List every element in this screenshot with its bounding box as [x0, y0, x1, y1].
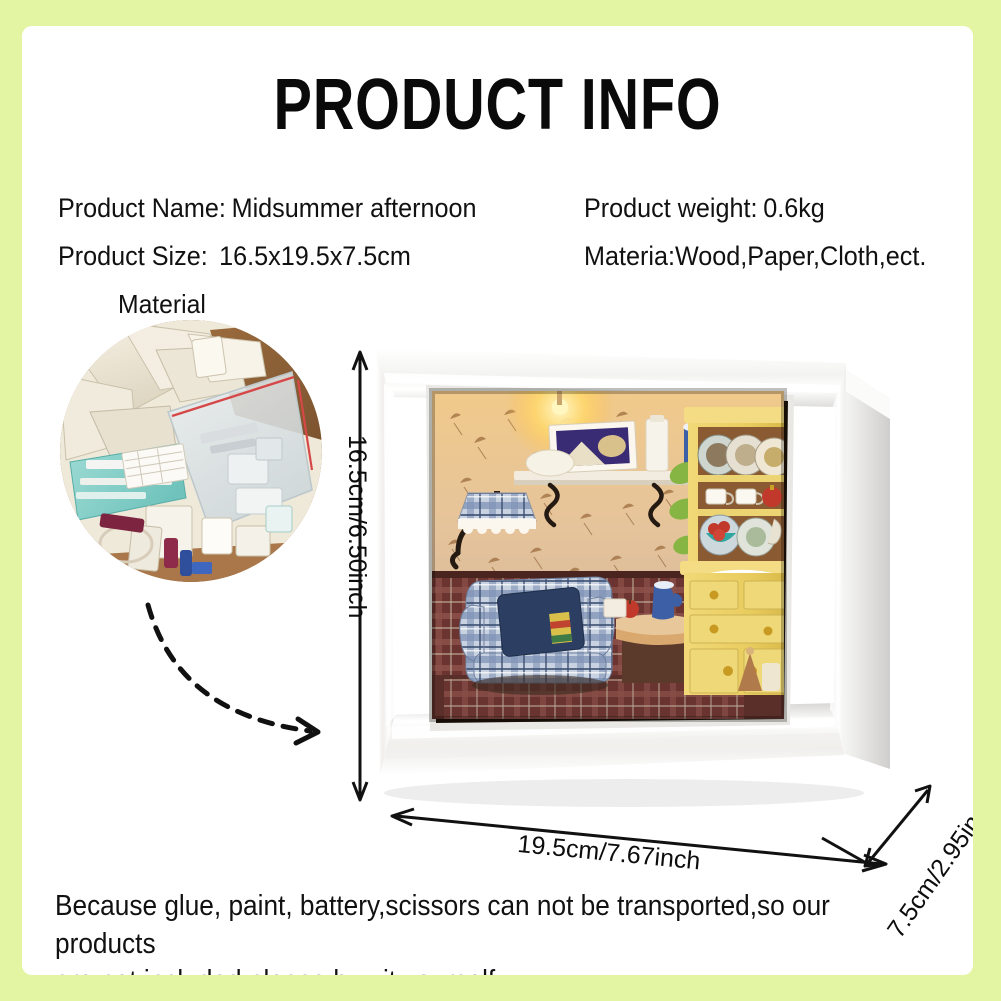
spec-product-name: Product Name:Midsummer afternoon: [58, 193, 476, 224]
dimension-width-label: 19.5cm/7.67inch: [516, 830, 701, 876]
spec-product-name-value: Midsummer afternoon: [232, 193, 477, 223]
material-photo-illustration: [60, 320, 322, 582]
spec-product-size-label: Product Size:: [58, 241, 208, 271]
dimension-height-label: 16.5cm/6.50inch: [342, 435, 371, 618]
curved-dashed-arrow: [134, 591, 344, 761]
spec-material: Materia:Wood,Paper,Cloth,ect.: [584, 241, 926, 272]
spec-product-weight-value: 0.6kg: [763, 193, 825, 223]
disclaimer-line-1: Because glue, paint, battery,scissors ca…: [55, 888, 874, 963]
disclaimer-line-2: are not included,please buy it yourself.: [55, 963, 874, 975]
material-photo: [60, 320, 322, 582]
spec-product-size: Product Size:16.5x19.5x7.5cm: [58, 241, 411, 272]
page-title: PRODUCT INFO: [117, 64, 878, 146]
spec-product-name-label: Product Name:: [58, 193, 226, 223]
material-caption: Material: [118, 289, 206, 320]
spec-material-label: Materia:: [584, 241, 675, 271]
spec-product-size-value: 16.5x19.5x7.5cm: [219, 241, 411, 271]
spec-product-weight-label: Product weight:: [584, 193, 758, 223]
disclaimer: Because glue, paint, battery,scissors ca…: [55, 888, 874, 975]
product-info-card: PRODUCT INFO Product Name:Midsummer afte…: [22, 26, 973, 975]
product-photo-illustration: [354, 323, 924, 833]
spec-material-value: Wood,Paper,Cloth,ect.: [675, 241, 926, 271]
spec-product-weight: Product weight:0.6kg: [584, 193, 825, 224]
product-photo: [354, 323, 924, 833]
